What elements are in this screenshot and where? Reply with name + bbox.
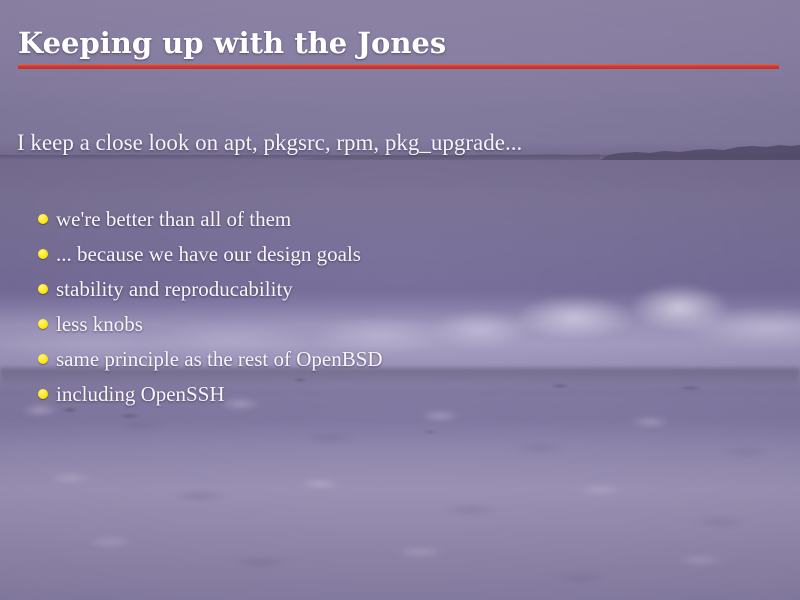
bullet-dot-icon <box>38 354 48 364</box>
list-item-label: we're better than all of them <box>56 207 291 231</box>
bullet-dot-icon <box>38 249 48 259</box>
bullet-dot-icon <box>38 214 48 224</box>
title-underline-rule <box>18 64 779 69</box>
list-item-label: same principle as the rest of OpenBSD <box>56 347 383 371</box>
bullet-dot-icon <box>38 389 48 399</box>
list-item: same principle as the rest of OpenBSD <box>38 344 383 379</box>
list-item: less knobs <box>38 309 383 344</box>
slide-lead-text: I keep a close look on apt, pkgsrc, rpm,… <box>17 129 522 157</box>
list-item: including OpenSSH <box>38 379 383 414</box>
list-item-label: less knobs <box>56 312 143 336</box>
list-item-label: including OpenSSH <box>56 382 225 406</box>
bullet-dot-icon <box>38 319 48 329</box>
list-item: we're better than all of them <box>38 204 383 239</box>
slide-title: Keeping up with the Jones <box>18 26 446 60</box>
bullet-dot-icon <box>38 284 48 294</box>
slide-canvas: Keeping up with the Jones I keep a close… <box>0 0 800 600</box>
list-item: stability and reproducability <box>38 274 383 309</box>
slide-bullet-list: we're better than all of them ... becaus… <box>38 204 383 414</box>
list-item: ... because we have our design goals <box>38 239 383 274</box>
slide-content: Keeping up with the Jones I keep a close… <box>0 0 800 600</box>
list-item-label: ... because we have our design goals <box>56 242 361 266</box>
list-item-label: stability and reproducability <box>56 277 293 301</box>
